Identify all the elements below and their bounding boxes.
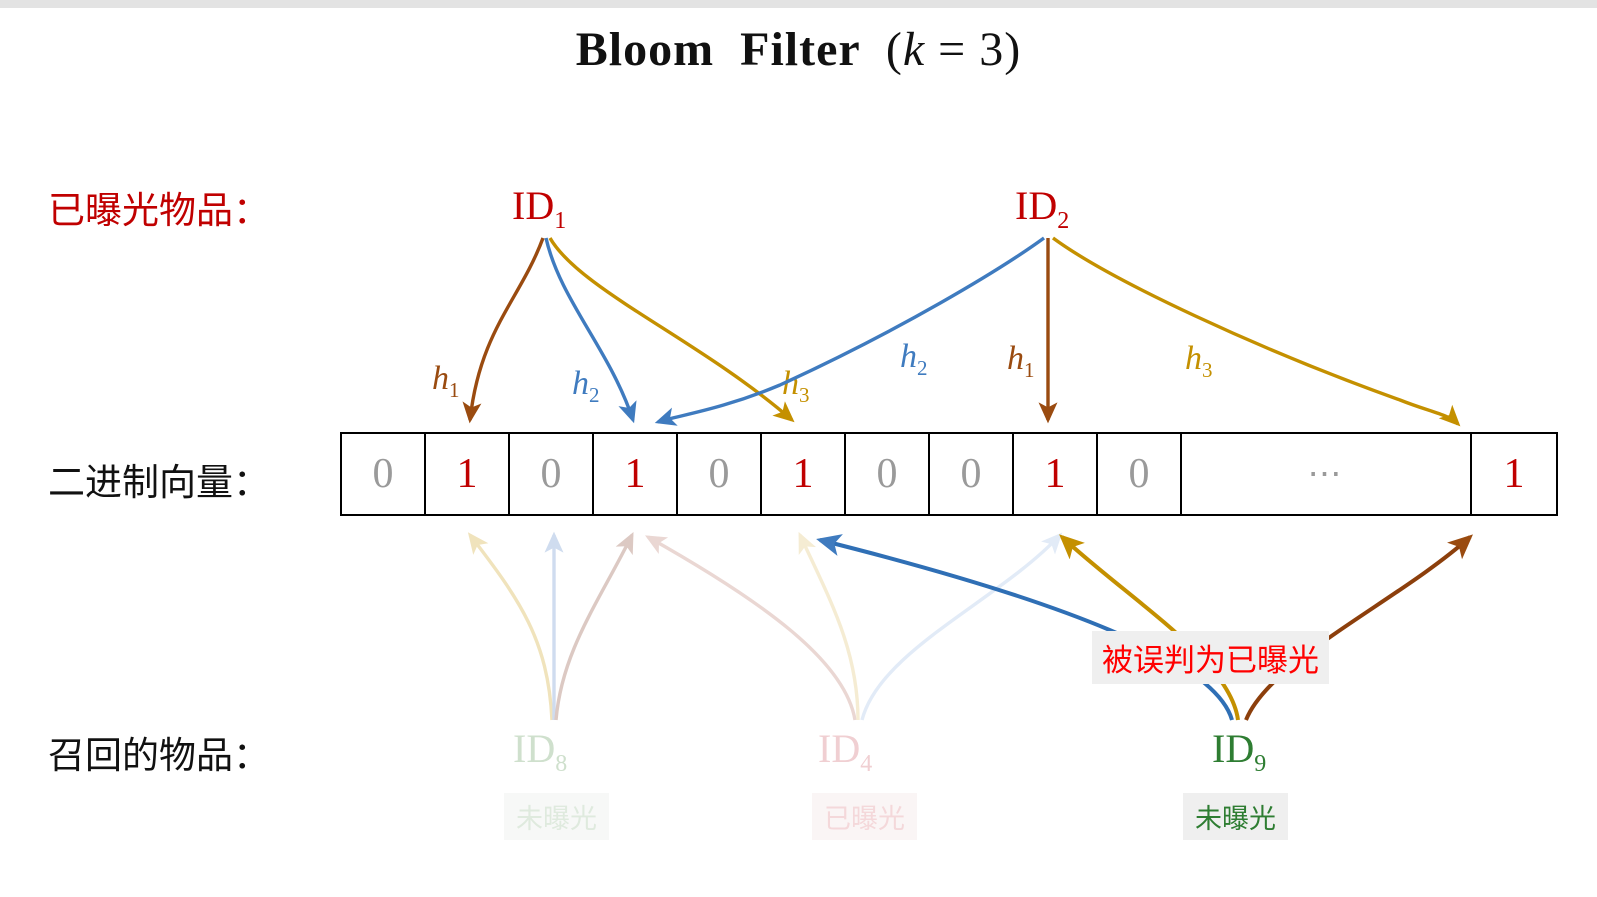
recall-item-id9: ID9 <box>1212 725 1266 778</box>
id9-name: ID <box>1212 726 1254 771</box>
bit-cell-7[interactable]: 0 <box>930 434 1014 514</box>
h-sym: h <box>1185 340 1202 377</box>
bitvector-label: 二进制向量： <box>48 452 270 506</box>
id4-name: ID <box>818 726 860 771</box>
arrow-id8-h3 <box>556 535 632 720</box>
title-k-symbol: k <box>903 23 925 76</box>
bit-cell-0[interactable]: 0 <box>342 434 426 514</box>
hash-label-id1-h2: h2 <box>572 365 600 408</box>
title-k-equation: = 3 <box>925 23 1004 76</box>
id8-name: ID <box>513 726 555 771</box>
bit-cell-2[interactable]: 0 <box>510 434 594 514</box>
arrow-id8-h1 <box>470 535 552 720</box>
h-sym: h <box>900 338 917 375</box>
h-sym: h <box>432 360 449 397</box>
id2-subscript: 2 <box>1057 208 1069 234</box>
arrow-id2-h2 <box>658 238 1044 422</box>
hash-label-id1-h3: h3 <box>782 365 810 408</box>
arrow-id4-h1 <box>648 537 855 720</box>
misjudged-annotation: 被误判为已曝光 <box>1092 631 1329 684</box>
recall-items-label: 召回的物品： <box>48 725 270 779</box>
arrow-id4-h3 <box>862 535 1060 720</box>
diagram-canvas: Bloom Filter (k = 3) 已曝光物品： 二进制向量： 召回的物品… <box>0 0 1597 897</box>
title-paren-close: ) <box>1004 23 1021 76</box>
h-sym: h <box>1007 340 1024 377</box>
exposed-item-id2: ID2 <box>1015 182 1069 235</box>
bit-cell-ellipsis: ⋯ <box>1182 434 1472 514</box>
h-sub: 2 <box>589 383 600 407</box>
exposed-items-label: 已曝光物品： <box>48 180 270 234</box>
arrow-id9-h2 <box>820 540 1232 720</box>
hash-label-id2-h3: h3 <box>1185 340 1213 383</box>
id2-name: ID <box>1015 183 1057 228</box>
h-sub: 2 <box>917 356 928 380</box>
bit-cell-3[interactable]: 1 <box>594 434 678 514</box>
arrow-id9-h3 <box>1246 537 1470 720</box>
bit-cell-5[interactable]: 1 <box>762 434 846 514</box>
id9-subscript: 9 <box>1254 751 1266 777</box>
status-badge-id8: 未曝光 <box>504 793 609 840</box>
id8-subscript: 8 <box>555 751 567 777</box>
bit-cell-6[interactable]: 0 <box>846 434 930 514</box>
hash-label-id2-h1: h1 <box>1007 340 1035 383</box>
bit-cell-4[interactable]: 0 <box>678 434 762 514</box>
h-sym: h <box>782 365 799 402</box>
page-title: Bloom Filter (k = 3) <box>0 22 1597 77</box>
arrow-id4-h2 <box>800 535 858 720</box>
status-badge-id9: 未曝光 <box>1183 793 1288 840</box>
hash-label-id1-h1: h1 <box>432 360 460 403</box>
bit-cell-last[interactable]: 1 <box>1472 434 1556 514</box>
h-sub: 1 <box>449 378 460 402</box>
id1-name: ID <box>512 183 554 228</box>
id4-subscript: 4 <box>860 751 872 777</box>
title-paren-open: ( <box>886 23 903 76</box>
h-sub: 1 <box>1024 358 1035 382</box>
h-sym: h <box>572 365 589 402</box>
title-main: Bloom Filter <box>576 23 886 76</box>
exposed-item-id1: ID1 <box>512 182 566 235</box>
bit-cell-9[interactable]: 0 <box>1098 434 1182 514</box>
bitvector-row: 0 1 0 1 0 1 0 0 1 0 ⋯ 1 <box>340 432 1558 516</box>
h-sub: 3 <box>1202 358 1213 382</box>
arrow-id1-h1 <box>470 238 543 420</box>
bit-cell-1[interactable]: 1 <box>426 434 510 514</box>
hash-label-id2-h2: h2 <box>900 338 928 381</box>
id1-subscript: 1 <box>554 208 566 234</box>
recall-item-id8: ID8 <box>513 725 567 778</box>
h-sub: 3 <box>799 383 810 407</box>
arrow-id2-h3 <box>1053 238 1458 424</box>
bit-cell-8[interactable]: 1 <box>1014 434 1098 514</box>
arrow-id9-h1 <box>1062 537 1238 720</box>
recall-item-id4: ID4 <box>818 725 872 778</box>
status-badge-id4: 已曝光 <box>812 793 917 840</box>
